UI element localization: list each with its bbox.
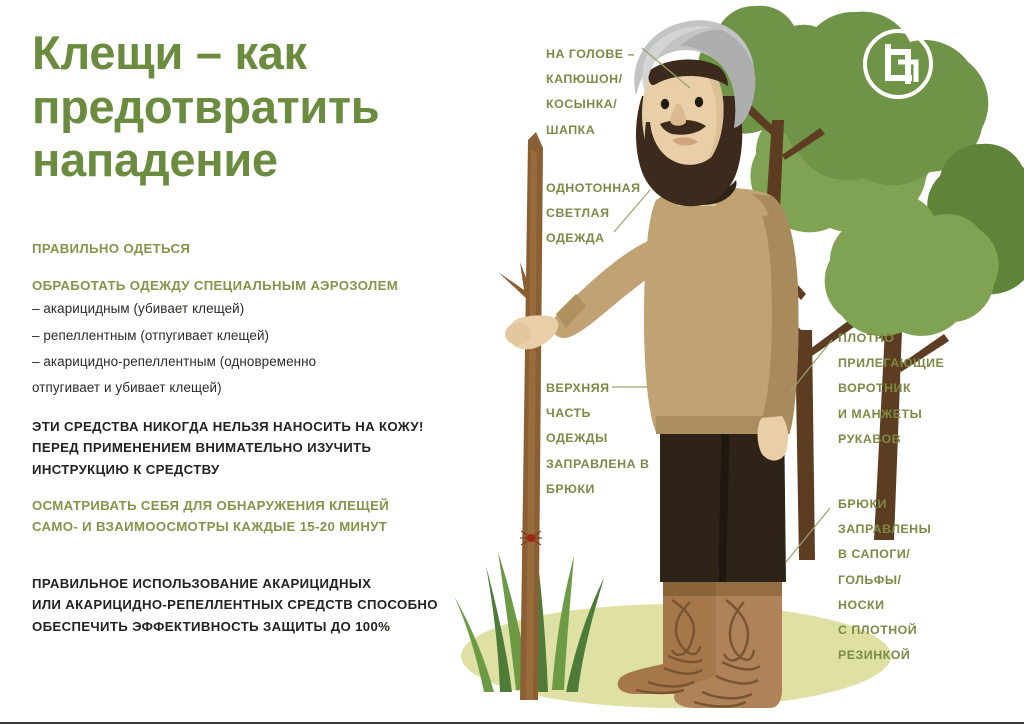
annotation-line: С ПЛОТНОЙ	[838, 618, 931, 643]
annotation-line: ВЕРХНЯЯ	[546, 376, 649, 401]
annotation-line: КАПЮШОН/	[546, 67, 635, 92]
annotation-line: БРЮКИ	[838, 492, 931, 517]
annotation-line: ЧАСТЬ	[546, 401, 649, 426]
leader-head	[642, 48, 690, 88]
leader-cuff	[790, 340, 832, 392]
annotation-line: БРЮКИ	[546, 477, 649, 502]
annotation-line: НА ГОЛОВЕ –	[546, 42, 635, 67]
annotation-line: НОСКИ	[838, 593, 931, 618]
annotation-line: РЕЗИНКОЙ	[838, 643, 931, 668]
annotation-line: ОДЕЖДА	[546, 226, 641, 251]
annotation-line: ЗАПРАВЛЕНА В	[546, 452, 649, 477]
annotation-line: СВЕТЛАЯ	[546, 201, 641, 226]
annotation-line: ЗАПРАВЛЕНЫ	[838, 517, 931, 542]
annotation-line: ОДНОТОННАЯ	[546, 176, 641, 201]
annotation-line: ОДЕЖДЫ	[546, 426, 649, 451]
annotation-tuck-in: ВЕРХНЯЯ ЧАСТЬ ОДЕЖДЫ ЗАПРАВЛЕНА В БРЮКИ	[546, 376, 649, 502]
annotation-line: РУКАВОВ	[838, 427, 944, 452]
annotation-clothing: ОДНОТОННАЯ СВЕТЛАЯ ОДЕЖДА	[546, 176, 641, 252]
annotation-head: НА ГОЛОВЕ – КАПЮШОН/ КОСЫНКА/ ШАПКА	[546, 42, 635, 143]
infographic-poster: Клещи – как предотвратить нападение ПРАВ…	[0, 0, 1024, 724]
annotation-line: И МАНЖЕТЫ	[838, 402, 944, 427]
annotation-line: ШАПКА	[546, 118, 635, 143]
annotation-line: ПЛОТНО	[838, 326, 944, 351]
annotation-collar-cuffs: ПЛОТНО ПРИЛЕГАЮЩИЕ ВОРОТНИК И МАНЖЕТЫ РУ…	[838, 326, 944, 452]
annotation-line: ВОРОТНИК	[838, 376, 944, 401]
leader-boots	[786, 508, 830, 562]
annotation-boots: БРЮКИ ЗАПРАВЛЕНЫ В САПОГИ/ ГОЛЬФЫ/ НОСКИ…	[838, 492, 931, 668]
annotation-line: ПРИЛЕГАЮЩИЕ	[838, 351, 944, 376]
annotation-line: КОСЫНКА/	[546, 92, 635, 117]
annotation-line: В САПОГИ/	[838, 542, 931, 567]
annotation-line: ГОЛЬФЫ/	[838, 568, 931, 593]
